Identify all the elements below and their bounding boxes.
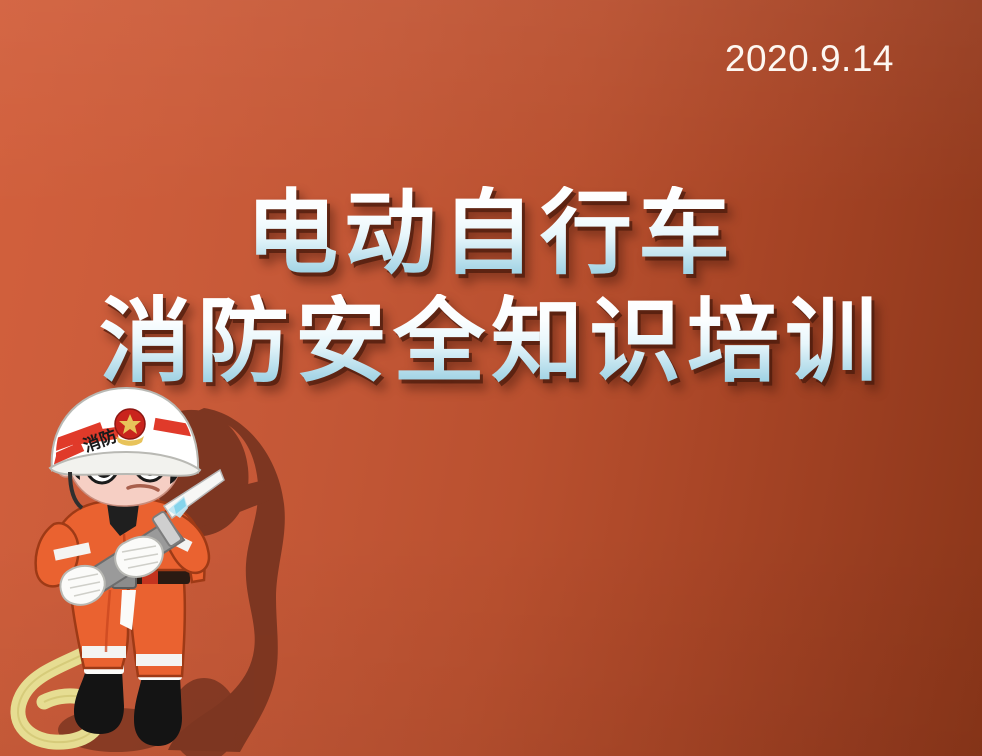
boot-right bbox=[134, 676, 182, 746]
title-line-2: 消防安全知识培训 bbox=[0, 294, 982, 390]
slide-title: 电动自行车 消防安全知识培训 bbox=[0, 186, 982, 389]
trouser-stripe-left bbox=[82, 646, 126, 658]
slide-date: 2020.9.14 bbox=[725, 40, 894, 77]
firefighter-illustration: 消防 bbox=[8, 384, 308, 756]
boot-left bbox=[74, 670, 124, 734]
title-line-1: 电动自行车 bbox=[0, 186, 982, 282]
trouser-stripe-right bbox=[136, 654, 182, 666]
glove-lower bbox=[60, 566, 104, 605]
presentation-title-slide: 2020.9.14 电动自行车 消防安全知识培训 bbox=[0, 0, 982, 756]
